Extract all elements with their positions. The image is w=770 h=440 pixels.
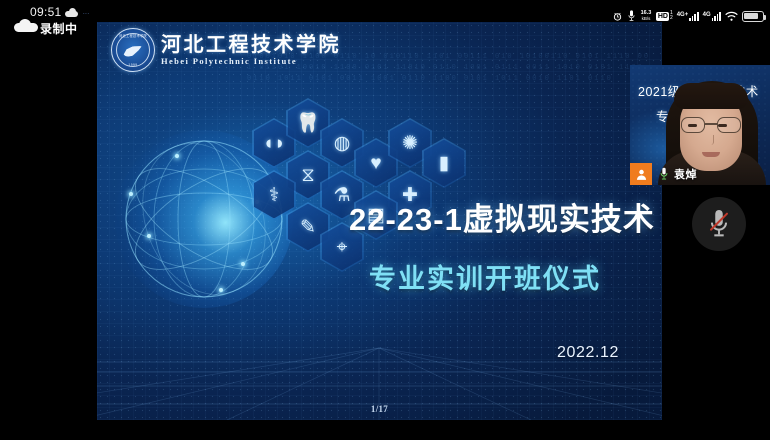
crest-swoosh-icon — [122, 43, 144, 58]
cloud-large-icon — [14, 19, 38, 33]
network-dots-icon: ... — [83, 10, 90, 16]
recording-status-label: 录制中 — [40, 20, 78, 37]
status-bar-right: 16.3 kB/s HD 1 2 4G+ 4G — [612, 8, 764, 24]
mute-microphone-button[interactable] — [692, 197, 746, 251]
university-name-cn: 河北工程技术学院 — [161, 34, 341, 56]
wifi-icon — [725, 11, 738, 22]
participant-video-tile[interactable]: 2021级虚拟现实技术 专业实训 — [630, 65, 770, 185]
user-avatar-icon — [630, 163, 652, 185]
hd-voice-icon: HD 1 2 — [656, 11, 672, 21]
sim2-signal-icon: 4G — [703, 12, 721, 21]
university-name-en: Hebei Polytechnic Institute — [161, 56, 341, 67]
university-crest-icon: 河北工程技术学院 1999 — [111, 28, 155, 72]
cloud-icon — [65, 8, 78, 17]
slide-date: 2022.12 — [557, 344, 619, 362]
data-speed-indicator: 16.3 kB/s — [641, 11, 652, 21]
university-name-block: 河北工程技术学院 Hebei Polytechnic Institute — [161, 34, 341, 67]
hd-slot-bottom: 2 — [670, 16, 673, 21]
data-speed-unit: kB/s — [642, 17, 651, 22]
hd-label: HD — [656, 12, 669, 21]
phone-screen: 09:51 ... 录制中 — [0, 0, 770, 440]
slide-title: 22-23-1虚拟现实技术 — [349, 194, 655, 239]
alarm-clock-icon — [612, 11, 623, 22]
microphone-muted-icon — [706, 209, 732, 239]
crest-arc-bottom-text: 1999 — [112, 63, 154, 67]
slide-subtitle: 专业实训开班仪式 — [369, 257, 601, 296]
clock: 09:51 — [30, 5, 62, 19]
status-bar-left: 09:51 ... 录制中 — [8, 4, 118, 34]
participant-name-bar: 袁焯 — [630, 163, 770, 185]
battery-icon — [742, 11, 764, 22]
microphone-on-icon[interactable] — [659, 167, 669, 181]
microphone-icon — [627, 10, 636, 22]
university-logo: 河北工程技术学院 1999 河北工程技术学院 Hebei Polytechnic… — [111, 28, 341, 72]
sim2-network-label: 4G — [703, 12, 711, 18]
status-bar: 09:51 ... 录制中 — [0, 0, 770, 34]
participant-name: 袁焯 — [674, 166, 697, 182]
slide-page-indicator: 1/17 — [371, 404, 388, 414]
sim1-network-label: 4G+ — [677, 12, 689, 18]
sim1-signal-icon: 4G+ — [677, 12, 699, 21]
presentation-slide[interactable]: 01001010 1100 0110 10 010110 1101 00111 … — [97, 22, 662, 420]
